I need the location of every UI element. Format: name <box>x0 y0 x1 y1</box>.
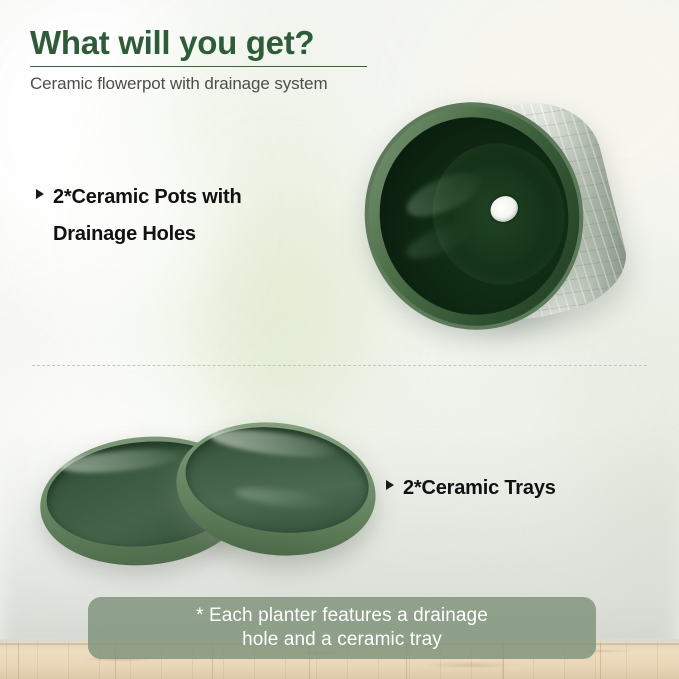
page-subtitle: Ceramic flowerpot with drainage system <box>30 74 367 94</box>
title-underline <box>30 66 367 67</box>
page-title: What will you get? <box>30 24 367 62</box>
section-divider <box>32 365 647 366</box>
note-line1: * Each planter features a drainage <box>196 605 488 626</box>
feature-trays-line1: 2*Ceramic Trays <box>403 477 556 500</box>
ceramic-pot-photo <box>365 96 635 336</box>
note-text: * Each planter features a drainage hole … <box>178 604 506 653</box>
note-line2: hole and a ceramic tray <box>242 629 442 650</box>
feature-trays-line1-row: 2*Ceramic Trays <box>386 477 556 500</box>
feature-item-trays: 2*Ceramic Trays <box>386 477 556 500</box>
ceramic-trays-photo <box>34 415 374 575</box>
triangle-right-icon <box>386 480 394 490</box>
feature-item-pots: 2*Ceramic Pots with Drainage Holes <box>36 186 242 246</box>
product-infographic: What will you get? Ceramic flowerpot wit… <box>0 0 679 679</box>
note-banner: * Each planter features a drainage hole … <box>88 597 596 659</box>
feature-pots-line1-row: 2*Ceramic Pots with <box>36 186 242 209</box>
feature-pots-line2: Drainage Holes <box>53 223 242 246</box>
triangle-right-icon <box>36 189 44 199</box>
feature-pots-line1: 2*Ceramic Pots with <box>53 186 242 209</box>
header: What will you get? Ceramic flowerpot wit… <box>30 24 367 94</box>
